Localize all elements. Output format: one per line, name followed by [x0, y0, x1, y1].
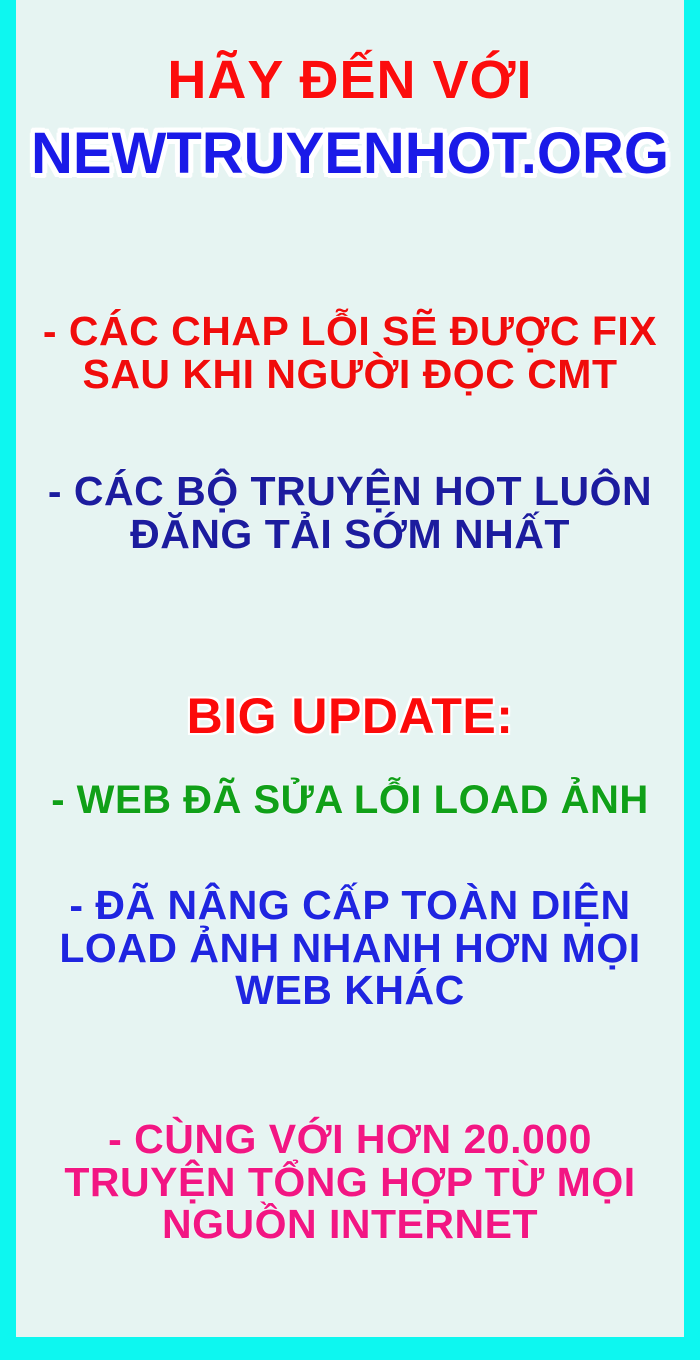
site-name-text[interactable]: NEWTRUYENHOT.ORG: [16, 124, 684, 184]
notice-fix-notice: - CÁC CHAP LỖI SẼ ĐƯỢC FIX SAU KHI NGƯỜI…: [16, 310, 684, 395]
frame-border-right: [684, 0, 700, 1360]
update-line: - ĐÃ NÂNG CẤP TOÀN DIỆN: [16, 884, 684, 927]
update-line: LOAD ẢNH NHANH HƠN MỌI: [16, 927, 684, 970]
update-line: - CÙNG VỚI HƠN 20.000: [16, 1118, 684, 1161]
update-full-upgrade: - ĐÃ NÂNG CẤP TOÀN DIỆN LOAD ẢNH NHANH H…: [16, 884, 684, 1012]
update-line: - WEB ĐÃ SỬA LỖI LOAD ẢNH: [16, 780, 684, 822]
notice-line: ĐĂNG TẢI SỚM NHẤT: [16, 513, 684, 556]
big-update-heading-text: BIG UPDATE:: [16, 690, 684, 742]
update-image-load-fix: - WEB ĐÃ SỬA LỖI LOAD ẢNH: [16, 780, 684, 822]
frame-border-bottom: [0, 1337, 700, 1360]
frame-border-left: [0, 0, 16, 1360]
headline-invite-text: HÃY ĐẾN VỚI: [16, 52, 684, 108]
update-line: WEB KHÁC: [16, 969, 684, 1012]
update-line: NGUỒN INTERNET: [16, 1203, 684, 1246]
poster-canvas: HÃY ĐẾN VỚI NEWTRUYENHOT.ORG - CÁC CHAP …: [16, 0, 684, 1337]
update-line: TRUYỆN TỔNG HỢP TỪ MỌI: [16, 1161, 684, 1204]
notice-hot-series-notice: - CÁC BỘ TRUYỆN HOT LUÔN ĐĂNG TẢI SỚM NH…: [16, 470, 684, 555]
notice-line: - CÁC BỘ TRUYỆN HOT LUÔN: [16, 470, 684, 513]
notice-line: SAU KHI NGƯỜI ĐỌC CMT: [16, 353, 684, 396]
big-update-heading: BIG UPDATE:: [16, 690, 684, 742]
update-library-size: - CÙNG VỚI HƠN 20.000 TRUYỆN TỔNG HỢP TỪ…: [16, 1118, 684, 1246]
notice-line: - CÁC CHAP LỖI SẼ ĐƯỢC FIX: [16, 310, 684, 353]
promo-poster: HÃY ĐẾN VỚI NEWTRUYENHOT.ORG - CÁC CHAP …: [0, 0, 700, 1368]
headline-block: HÃY ĐẾN VỚI NEWTRUYENHOT.ORG: [16, 52, 684, 184]
